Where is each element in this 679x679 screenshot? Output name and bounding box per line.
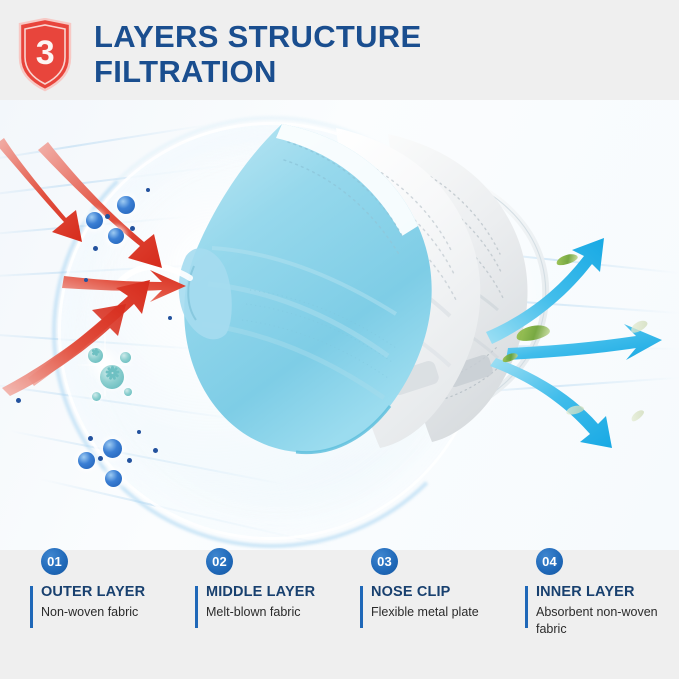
shield-number: 3 [16, 18, 74, 92]
virus-particle [100, 365, 124, 389]
droplet-particle [146, 188, 150, 192]
legend-title: INNER LAYER [536, 584, 679, 600]
legend-description: Melt-blown fabric [206, 604, 346, 621]
legend-title: OUTER LAYER [41, 584, 195, 600]
droplet-particle [153, 448, 158, 453]
title-line-2: FILTRATION [94, 55, 421, 90]
legend-item-nose-clip[interactable]: 03 NOSE CLIP Flexible metal plate [360, 548, 525, 679]
legend-divider-bar [195, 586, 198, 628]
header: 3 LAYERS STRUCTURE FILTRATION [0, 0, 679, 110]
legend-description: Absorbent non-woven fabric [536, 604, 676, 637]
page-title: LAYERS STRUCTURE FILTRATION [94, 20, 421, 89]
legend-divider-bar [525, 586, 528, 628]
legend-divider-bar [30, 586, 33, 628]
droplet-particle [84, 278, 88, 282]
droplet-particle [105, 214, 110, 219]
legend-title: NOSE CLIP [371, 584, 525, 600]
droplet-particle [78, 452, 95, 469]
droplet-particle [137, 430, 141, 434]
legend-item-middle-layer[interactable]: 02 MIDDLE LAYER Melt-blown fabric [195, 548, 360, 679]
legend-number-badge: 01 [41, 548, 68, 575]
droplet-particle [117, 196, 135, 214]
shield-icon: 3 [16, 18, 74, 92]
droplet-particle [103, 439, 122, 458]
droplet-particle [108, 228, 124, 244]
legend-row: 01 OUTER LAYER Non-woven fabric 02 MIDDL… [0, 548, 679, 679]
droplet-particle [93, 246, 98, 251]
droplet-particle [16, 398, 21, 403]
legend-number-badge: 03 [371, 548, 398, 575]
droplet-particle [98, 456, 103, 461]
legend-title: MIDDLE LAYER [206, 584, 360, 600]
droplet-particle [105, 470, 122, 487]
legend-description: Flexible metal plate [371, 604, 511, 621]
legend-divider-bar [360, 586, 363, 628]
legend-description: Non-woven fabric [41, 604, 181, 621]
illustration-stage [0, 100, 679, 550]
droplet-particle [88, 436, 93, 441]
droplet-particle [86, 212, 103, 229]
clean-air-arrows [0, 100, 679, 550]
virus-particle [92, 392, 101, 401]
virus-particle [120, 352, 131, 363]
droplet-particle [130, 226, 135, 231]
legend-number-badge: 04 [536, 548, 563, 575]
virus-particle [124, 388, 132, 396]
legend-number-badge: 02 [206, 548, 233, 575]
legend-item-inner-layer[interactable]: 04 INNER LAYER Absorbent non-woven fabri… [525, 548, 679, 679]
droplet-particle [168, 316, 172, 320]
mask-layers-infographic: 3 LAYERS STRUCTURE FILTRATION [0, 0, 679, 679]
legend-item-outer-layer[interactable]: 01 OUTER LAYER Non-woven fabric [30, 548, 195, 679]
title-line-1: LAYERS STRUCTURE [94, 20, 421, 55]
virus-particle [88, 348, 103, 363]
droplet-particle [127, 458, 132, 463]
